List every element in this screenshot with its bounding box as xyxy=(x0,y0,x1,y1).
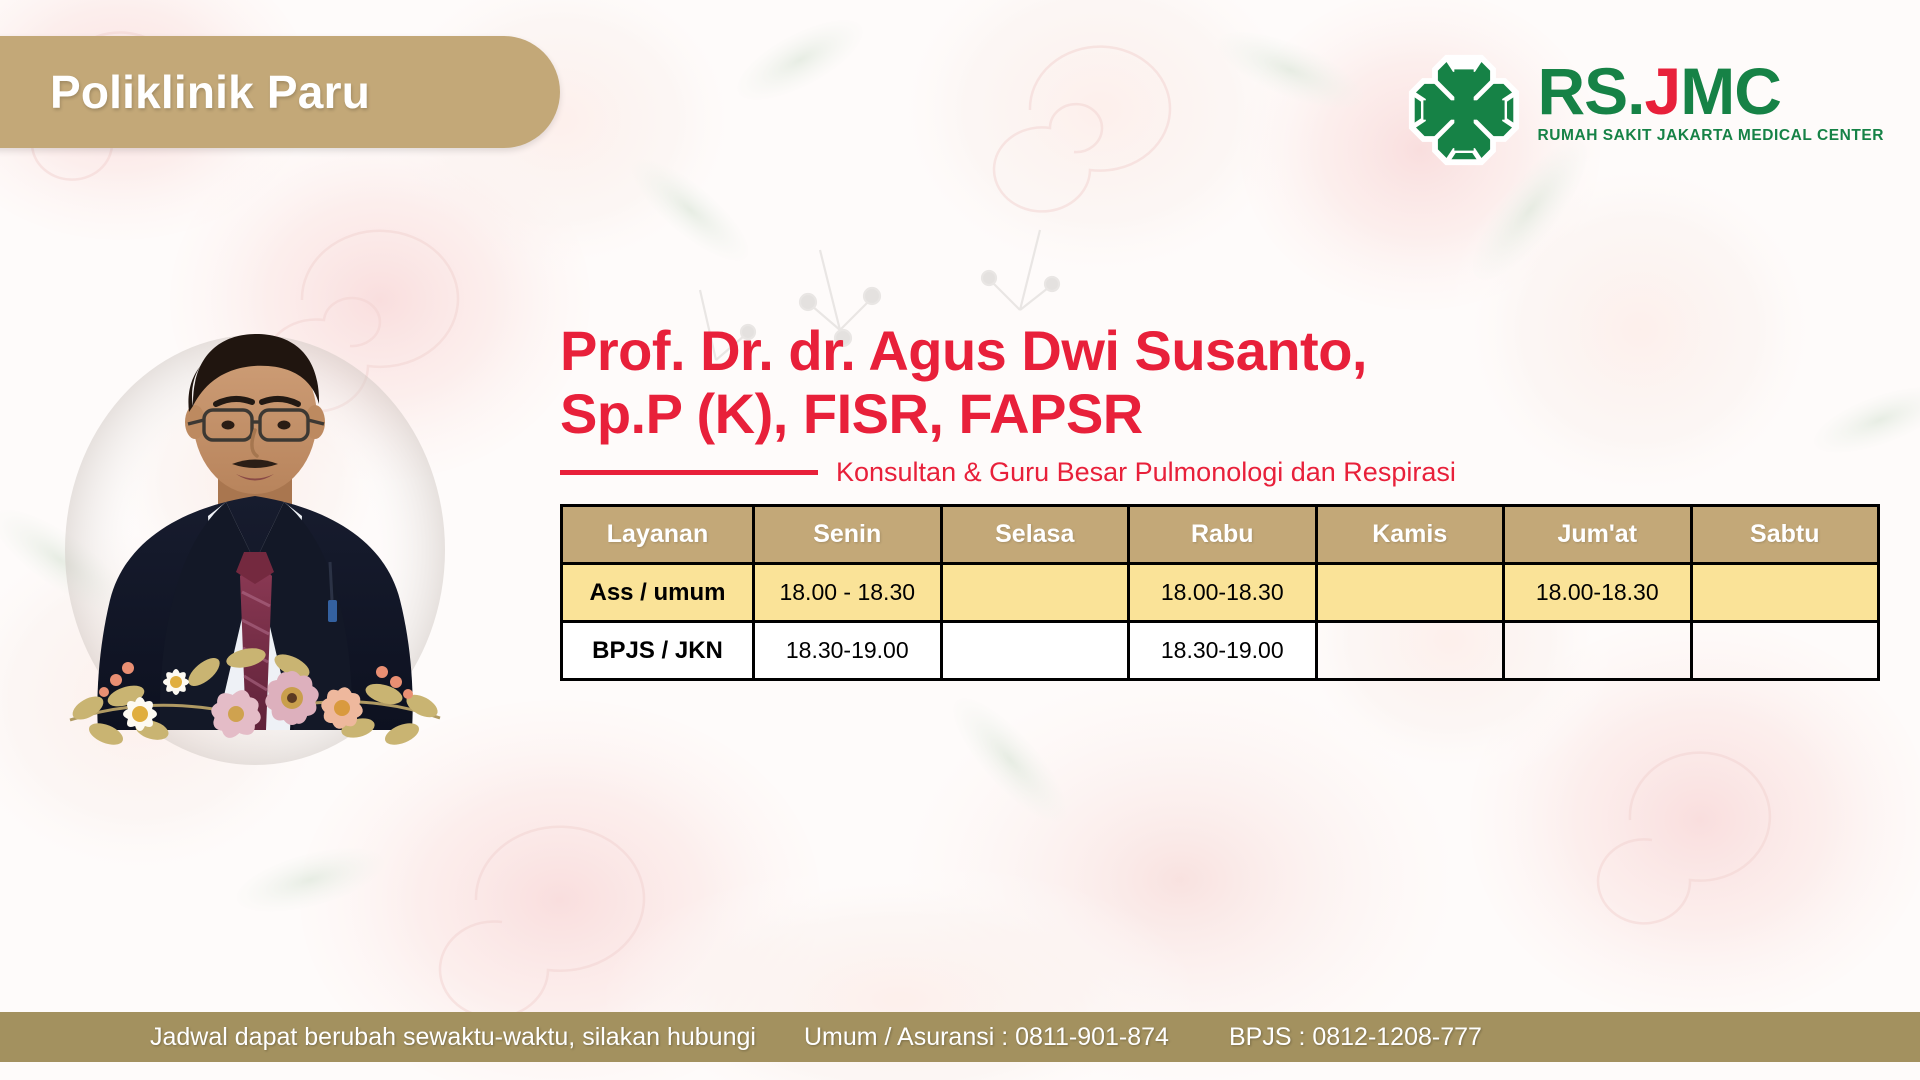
footer-schedule-note: Jadwal dapat berubah sewaktu-waktu, sila… xyxy=(150,1023,756,1052)
cell-ass-sabtu xyxy=(1691,564,1879,622)
cell-bpjs-selasa xyxy=(941,622,1129,680)
clinic-name-badge: Poliklinik Paru xyxy=(0,36,560,148)
column-header-jumat: Jum'at xyxy=(1504,506,1692,564)
logo-wordmark-mc: MC xyxy=(1680,54,1781,128)
subtitle-divider xyxy=(560,470,818,475)
footer-umum-contact: Umum / Asuransi : 0811-901-874 xyxy=(804,1023,1169,1052)
doctor-name: Prof. Dr. dr. Agus Dwi Susanto, Sp.P (K)… xyxy=(560,320,1890,445)
column-header-senin: Senin xyxy=(754,506,942,564)
service-label-bpjs-jkn: BPJS / JKN xyxy=(562,622,754,680)
cell-bpjs-sabtu xyxy=(1691,622,1879,680)
cell-ass-senin: 18.00 - 18.30 xyxy=(754,564,942,622)
table-row: Ass / umum 18.00 - 18.30 18.00-18.30 18.… xyxy=(562,564,1879,622)
schedule-table: Layanan Senin Selasa Rabu Kamis Jum'at S… xyxy=(560,504,1880,681)
column-header-kamis: Kamis xyxy=(1316,506,1504,564)
doctor-name-line-1: Prof. Dr. dr. Agus Dwi Susanto, xyxy=(560,320,1890,383)
main-content: Prof. Dr. dr. Agus Dwi Susanto, Sp.P (K)… xyxy=(560,320,1890,681)
table-header-row: Layanan Senin Selasa Rabu Kamis Jum'at S… xyxy=(562,506,1879,564)
cell-bpjs-senin: 18.30-19.00 xyxy=(754,622,942,680)
doctor-portrait-photo xyxy=(40,300,470,770)
green-medical-cross-icon xyxy=(1406,52,1522,168)
column-header-rabu: Rabu xyxy=(1129,506,1317,564)
logo-wordmark-j: J xyxy=(1645,54,1681,128)
hospital-logo: RS.JMC RUMAH SAKIT JAKARTA MEDICAL CENTE… xyxy=(1406,52,1885,168)
column-header-sabtu: Sabtu xyxy=(1691,506,1879,564)
cell-bpjs-kamis xyxy=(1316,622,1504,680)
column-header-selasa: Selasa xyxy=(941,506,1129,564)
cell-ass-rabu: 18.00-18.30 xyxy=(1129,564,1317,622)
footer-bpjs-contact: BPJS : 0812-1208-777 xyxy=(1229,1023,1482,1052)
doctor-name-line-2: Sp.P (K), FISR, FAPSR xyxy=(560,383,1890,446)
column-header-layanan: Layanan xyxy=(562,506,754,564)
cell-ass-selasa xyxy=(941,564,1129,622)
clinic-name-label: Poliklinik Paru xyxy=(50,65,370,119)
service-label-ass-umum: Ass / umum xyxy=(562,564,754,622)
cell-bpjs-jumat xyxy=(1504,622,1692,680)
cell-ass-kamis xyxy=(1316,564,1504,622)
cell-ass-jumat: 18.00-18.30 xyxy=(1504,564,1692,622)
footer-contact-bar: Jadwal dapat berubah sewaktu-waktu, sila… xyxy=(0,1012,1920,1062)
doctor-subtitle-row: Konsultan & Guru Besar Pulmonologi dan R… xyxy=(560,457,1890,488)
table-row: BPJS / JKN 18.30-19.00 18.30-19.00 xyxy=(562,622,1879,680)
logo-wordmark: RS.JMC xyxy=(1538,60,1885,123)
logo-wordmark-rs: RS. xyxy=(1538,54,1645,128)
cell-bpjs-rabu: 18.30-19.00 xyxy=(1129,622,1317,680)
logo-tagline: RUMAH SAKIT JAKARTA MEDICAL CENTER xyxy=(1538,127,1885,145)
doctor-specialty-label: Konsultan & Guru Besar Pulmonologi dan R… xyxy=(836,457,1456,488)
